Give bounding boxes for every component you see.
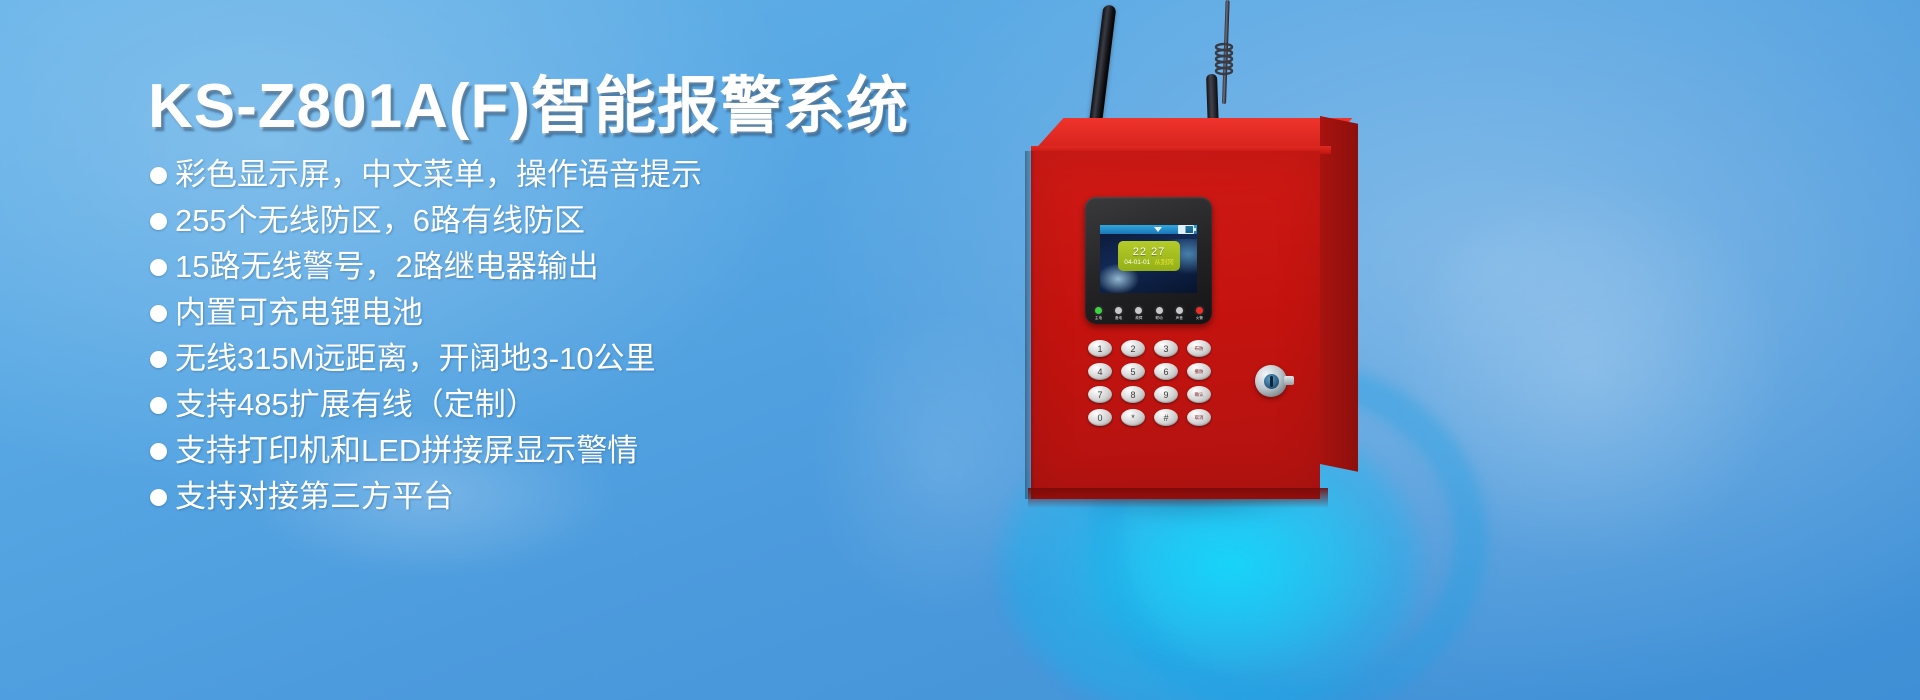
bullet-icon — [150, 443, 167, 460]
key-7[interactable]: 7 — [1088, 386, 1112, 403]
key-disarm[interactable]: 撤防 — [1187, 363, 1211, 380]
status-led: 主电 — [1090, 307, 1107, 321]
feature-label: 支持485扩展有线（定制） — [175, 382, 537, 428]
key-8[interactable]: 8 — [1121, 386, 1145, 403]
led-indicator — [1156, 307, 1163, 314]
led-label: 主电 — [1095, 316, 1102, 321]
key-2[interactable]: 2 — [1121, 340, 1145, 357]
status-led-row: 主电 备电 故障 联动 声音 火警 — [1090, 307, 1208, 327]
feature-label: 支持对接第三方平台 — [175, 474, 454, 520]
status-led: 火警 — [1191, 307, 1208, 321]
status-led: 声音 — [1171, 307, 1188, 321]
antenna-right-coil-icon — [1213, 42, 1235, 76]
lcd-clock-widget: 22 27 04-01-01 从别冈 — [1118, 241, 1180, 271]
led-indicator — [1196, 307, 1203, 314]
list-item: 彩色显示屏，中文菜单，操作语音提示 — [150, 152, 950, 198]
key-6[interactable]: 6 — [1154, 363, 1178, 380]
feature-label: 支持打印机和LED拼接屏显示警情 — [175, 428, 638, 474]
bullet-icon — [150, 167, 167, 184]
panel-bottom-shade — [1028, 488, 1328, 508]
page-title: KS-Z801A(F)智能报警系统 — [148, 55, 909, 145]
lcd-status-bar — [1100, 225, 1197, 234]
feature-label: 255个无线防区，6路有线防区 — [175, 198, 585, 244]
status-led: 备电 — [1110, 307, 1127, 321]
key-9[interactable]: 9 — [1154, 386, 1178, 403]
wifi-icon — [1154, 226, 1162, 233]
led-label: 联动 — [1155, 316, 1162, 321]
led-indicator — [1176, 307, 1183, 314]
status-led: 联动 — [1151, 307, 1168, 321]
panel-left-edge — [1025, 151, 1035, 499]
feature-label: 内置可充电锂电池 — [175, 290, 423, 336]
led-label: 故障 — [1135, 316, 1142, 321]
lock-tab — [1284, 376, 1294, 385]
lcd-screen[interactable]: 22 27 04-01-01 从别冈 — [1100, 225, 1197, 293]
feature-list: 彩色显示屏，中文菜单，操作语音提示 255个无线防区，6路有线防区 15路无线警… — [150, 152, 950, 520]
led-indicator — [1095, 307, 1102, 314]
led-label: 火警 — [1196, 316, 1203, 321]
list-item: 255个无线防区，6路有线防区 — [150, 198, 950, 244]
lcd-time: 22 27 — [1133, 246, 1166, 258]
key-0[interactable]: 0 — [1088, 409, 1112, 426]
list-item: 无线315M远距离，开阔地3-10公里 — [150, 336, 950, 382]
key-5[interactable]: 5 — [1121, 363, 1145, 380]
key-hash[interactable]: # — [1154, 409, 1178, 426]
led-label: 声音 — [1176, 316, 1183, 321]
bullet-icon — [150, 351, 167, 368]
battery-icon — [1178, 225, 1194, 234]
list-item: 支持对接第三方平台 — [150, 474, 950, 520]
list-item: 支持485扩展有线（定制） — [150, 382, 950, 428]
feature-label: 15路无线警号，2路继电器输出 — [175, 244, 599, 290]
banner-text-block: KS-Z801A(F)智能报警系统 彩色显示屏，中文菜单，操作语音提示 255个… — [0, 0, 960, 700]
led-indicator — [1135, 307, 1142, 314]
keypad[interactable]: 1 2 3 布防 4 5 6 撤防 7 8 9 确认 0 * # 取消 — [1088, 340, 1214, 426]
key-arm[interactable]: 布防 — [1187, 340, 1211, 357]
lcd-date-row: 04-01-01 从别冈 — [1124, 258, 1174, 267]
key-star[interactable]: * — [1121, 409, 1145, 426]
key-3[interactable]: 3 — [1154, 340, 1178, 357]
key-4[interactable]: 4 — [1088, 363, 1112, 380]
banner-canvas: KS-Z801A(F)智能报警系统 彩色显示屏，中文菜单，操作语音提示 255个… — [0, 0, 1920, 700]
list-item: 内置可充电锂电池 — [150, 290, 950, 336]
background-glow-right — [1310, 90, 1870, 650]
lcd-weekday: 从别冈 — [1154, 258, 1174, 267]
status-led: 故障 — [1130, 307, 1147, 321]
led-label: 备电 — [1115, 316, 1122, 321]
led-indicator — [1115, 307, 1122, 314]
feature-label: 无线315M远距离，开阔地3-10公里 — [175, 336, 656, 382]
key-1[interactable]: 1 — [1088, 340, 1112, 357]
feature-label: 彩色显示屏，中文菜单，操作语音提示 — [175, 152, 702, 198]
bullet-icon — [150, 213, 167, 230]
bullet-icon — [150, 305, 167, 322]
lock-keyhole — [1264, 374, 1279, 389]
list-item: 15路无线警号，2路继电器输出 — [150, 244, 950, 290]
lcd-date: 04-01-01 — [1124, 258, 1150, 267]
bullet-icon — [150, 489, 167, 506]
panel-side-face — [1320, 116, 1358, 472]
bullet-icon — [150, 259, 167, 276]
bullet-icon — [150, 397, 167, 414]
cabinet-lock-icon[interactable] — [1255, 365, 1287, 397]
list-item: 支持打印机和LED拼接屏显示警情 — [150, 428, 950, 474]
key-cancel[interactable]: 取消 — [1187, 409, 1211, 426]
key-confirm[interactable]: 确认 — [1187, 386, 1211, 403]
